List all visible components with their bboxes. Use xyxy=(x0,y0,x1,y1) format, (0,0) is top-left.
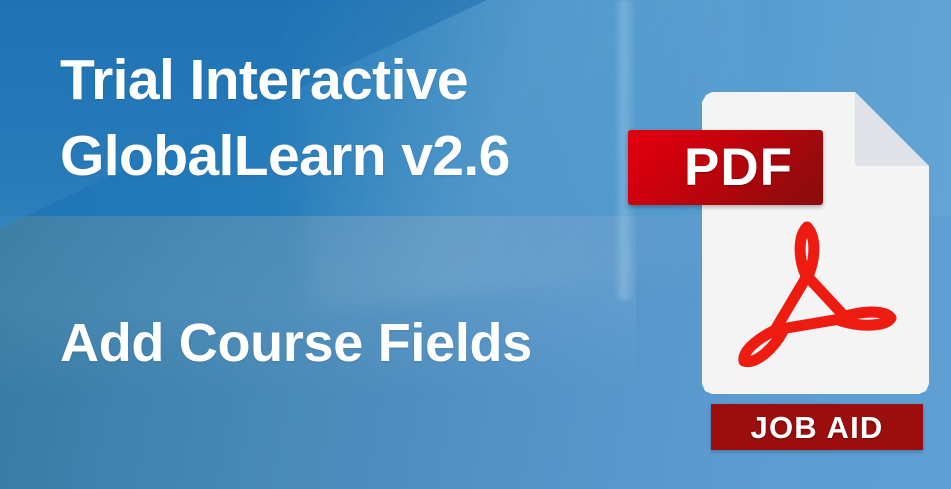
page-title: Trial Interactive GlobalLearn v2.6 xyxy=(60,42,640,194)
job-aid-ribbon: JOB AID xyxy=(711,404,923,450)
pdf-badge-label: PDF xyxy=(658,141,793,194)
job-aid-ribbon-label: JOB AID xyxy=(751,412,884,443)
job-aid-banner-graphic: Trial Interactive GlobalLearn v2.6 Add C… xyxy=(0,0,951,489)
page-fold-corner-icon xyxy=(855,92,929,167)
pdf-format-badge: PDF xyxy=(628,130,823,205)
pdf-document-icon: PDF JOB AID xyxy=(626,86,936,446)
page-title-line-1: Trial Interactive xyxy=(60,42,640,118)
adobe-acrobat-logo-icon xyxy=(728,214,900,376)
page-title-line-2: GlobalLearn v2.6 xyxy=(60,118,640,194)
page-subtitle-line-1: Add Course Fields xyxy=(60,312,640,374)
page-subtitle: Add Course Fields xyxy=(60,312,640,374)
